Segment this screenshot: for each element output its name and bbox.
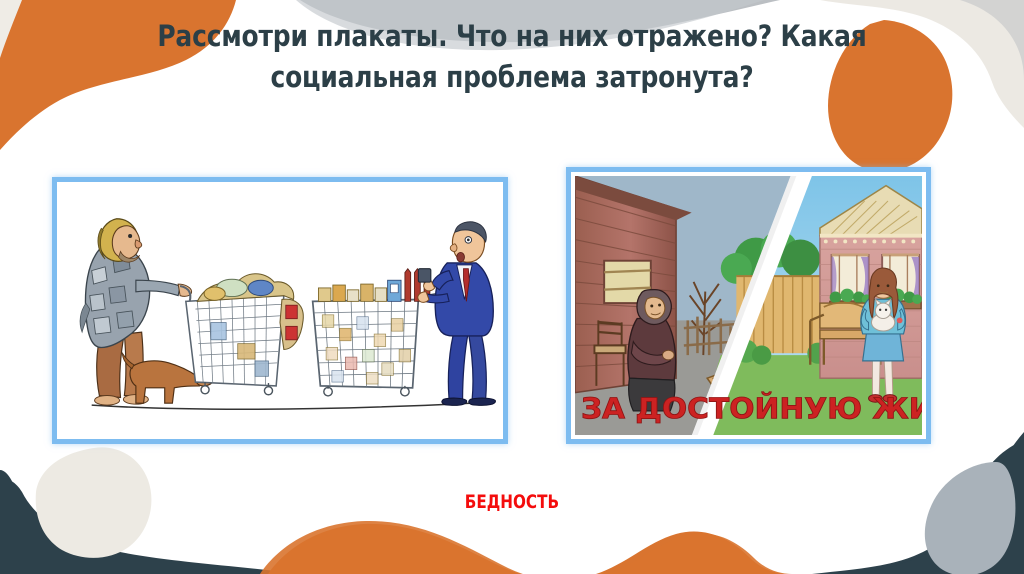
bottom-orange-wave <box>268 524 790 574</box>
answer-caption: БЕДНОСТЬ <box>0 491 1024 513</box>
page-title: Рассмотри плакаты. Что на них отражено? … <box>0 16 1024 98</box>
bottom-left-teal-blob <box>0 470 220 574</box>
bottom-orange-wave-2 <box>260 521 792 574</box>
poster-caption: ЗА ДОСТОЙНУЮ ЖИЗНЬ! <box>581 391 922 425</box>
poster-right-frame[interactable]: ЗА ДОСТОЙНУЮ ЖИЗНЬ! ЗА ДОСТОЙНУЮ ЖИЗНЬ! … <box>566 167 931 444</box>
shopping-carts-cartoon-art <box>63 188 497 433</box>
poster-caption-text: ЗА ДОСТОЙНУЮ ЖИЗНЬ! <box>581 391 922 425</box>
title-line-2: социальная проблема затронута? <box>72 57 953 98</box>
za-dostoynuyu-zhizn-art: ЗА ДОСТОЙНУЮ ЖИЗНЬ! <box>575 176 922 435</box>
answer-caption-text: БЕДНОСТЬ <box>465 491 559 513</box>
poster-right-canvas: ЗА ДОСТОЙНУЮ ЖИЗНЬ! ЗА ДОСТОЙНУЮ ЖИЗНЬ! … <box>575 176 922 435</box>
slide-canvas: Рассмотри плакаты. Что на них отражено? … <box>0 0 1024 574</box>
poster-left-canvas <box>63 188 497 433</box>
title-line-1: Рассмотри плакаты. Что на них отражено? … <box>72 16 953 57</box>
bottom-right-gray-blob <box>925 462 1016 574</box>
poster-left-frame[interactable] <box>52 177 508 444</box>
